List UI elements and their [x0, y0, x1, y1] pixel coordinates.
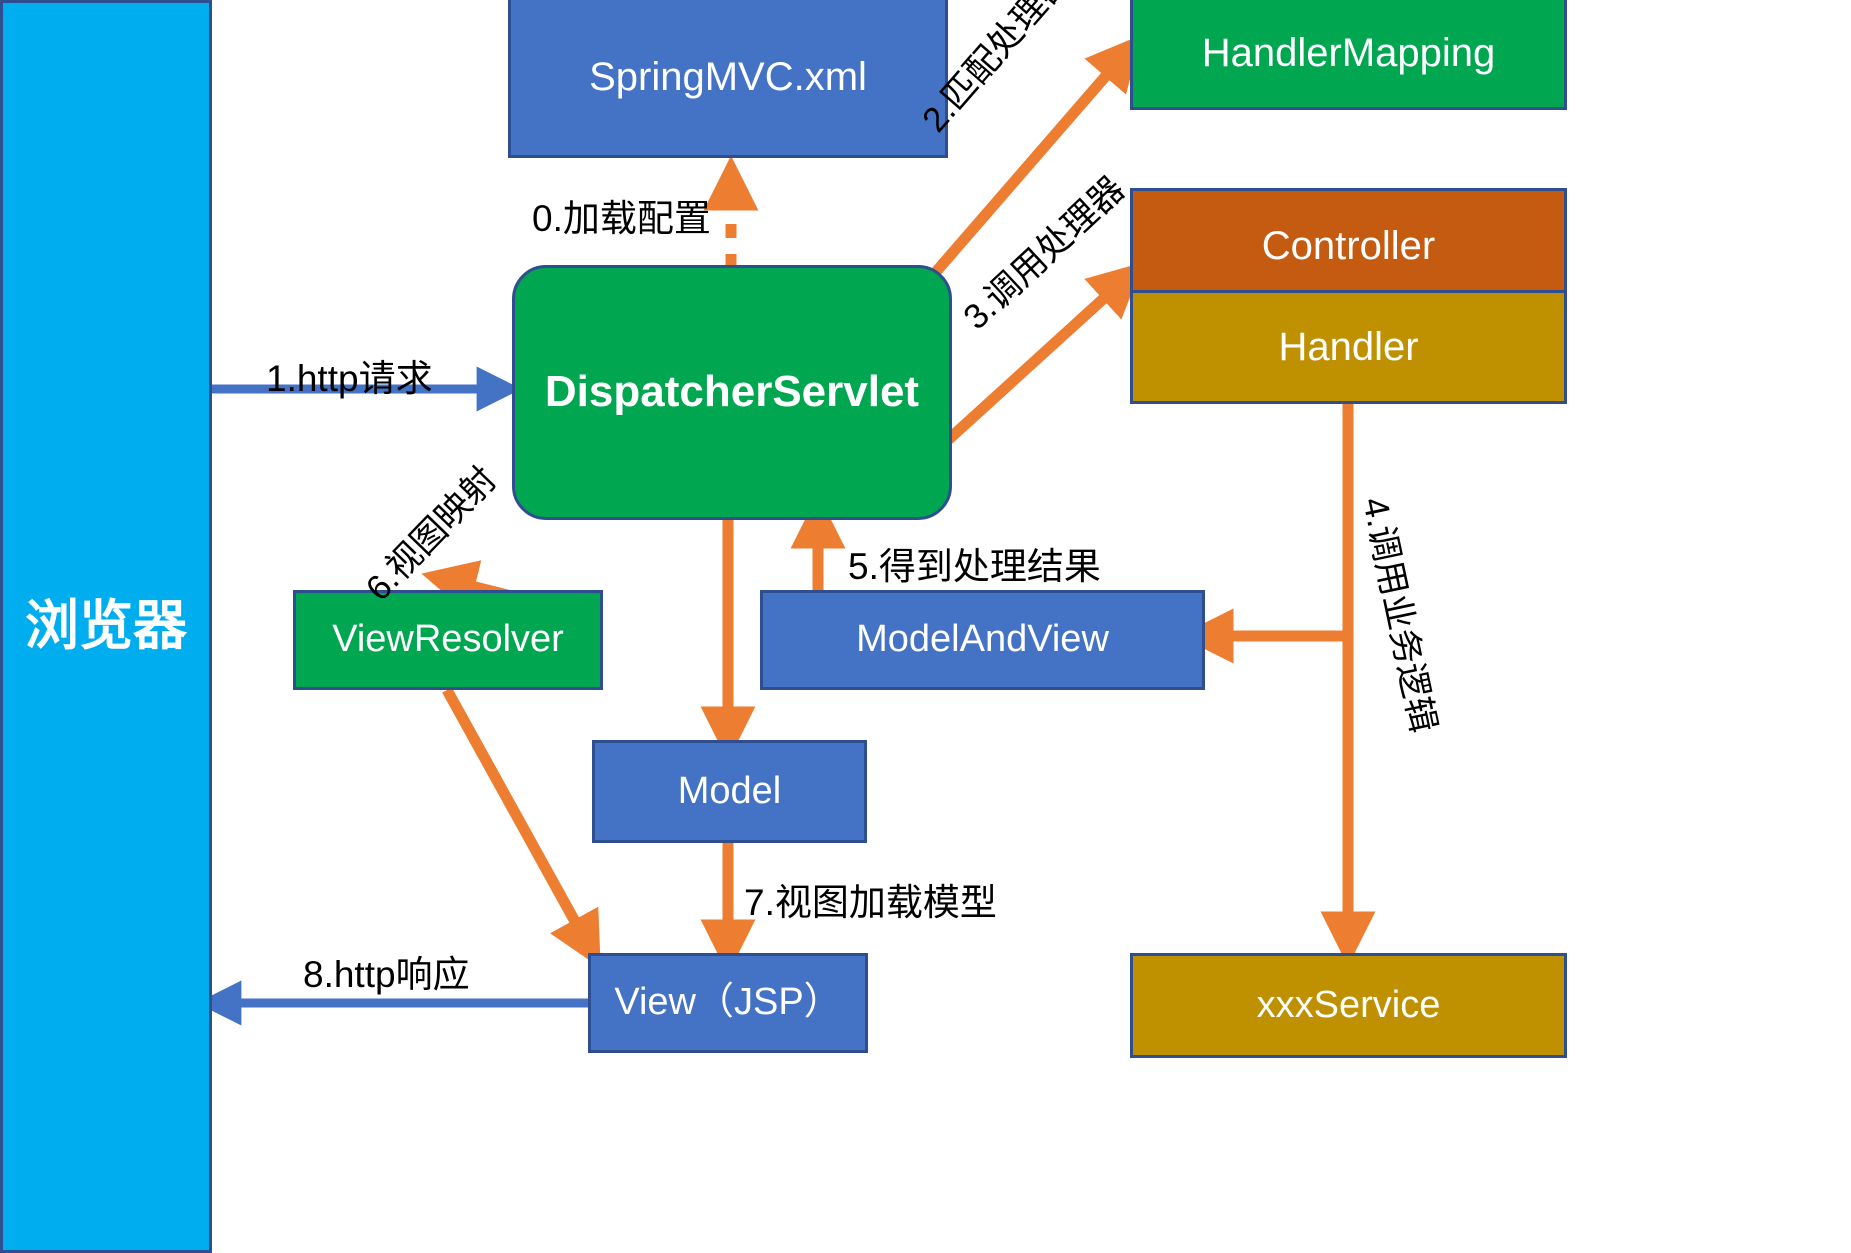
- edge-label-step5-text: 5.得到处理结果: [848, 546, 1101, 587]
- node-handler[interactable]: Handler: [1130, 290, 1567, 404]
- node-dispatcher-servlet[interactable]: DispatcherServlet: [512, 265, 952, 520]
- node-browser-label: 浏览器: [25, 597, 187, 656]
- node-springmvc-xml[interactable]: SpringMVC.xml: [508, 0, 948, 158]
- edge-label-step1: 1.http请求: [266, 348, 433, 402]
- edge-label-step0: 0.加载配置: [532, 188, 711, 242]
- edge-label-step7: 7.视图加载模型: [744, 872, 997, 926]
- edge-label-step6: 6.视图映射: [352, 453, 506, 610]
- node-view-jsp-label: View（JSP）: [614, 982, 841, 1024]
- edge-label-step0-text: 0.加载配置: [532, 198, 711, 239]
- node-handler-mapping-label: HandlerMapping: [1202, 31, 1496, 75]
- edge-label-step4-text: 4.调用业务逻辑: [1355, 494, 1443, 736]
- node-model-label: Model: [678, 771, 782, 813]
- arrow-viewresolver-to-view: [447, 690, 588, 945]
- node-model-and-view[interactable]: ModelAndView: [760, 590, 1205, 690]
- edge-label-step3-text: 3.调用处理器: [956, 169, 1132, 337]
- node-model-and-view-label: ModelAndView: [856, 619, 1109, 661]
- node-handler-label: Handler: [1278, 325, 1418, 369]
- edge-label-step8: 8.http响应: [303, 944, 470, 998]
- springmvc-flow-diagram: 浏览器 SpringMVC.xml DispatcherServlet Hand…: [0, 0, 1851, 1253]
- node-controller[interactable]: Controller: [1130, 188, 1567, 304]
- edge-label-step8-text: 8.http响应: [303, 954, 470, 995]
- edge-label-step5: 5.得到处理结果: [848, 536, 1101, 590]
- node-springmvc-xml-label: SpringMVC.xml: [589, 55, 867, 99]
- node-view-jsp[interactable]: View（JSP）: [588, 953, 868, 1053]
- edge-label-step1-text: 1.http请求: [266, 358, 433, 399]
- node-controller-label: Controller: [1262, 224, 1435, 268]
- node-view-resolver-label: ViewResolver: [332, 619, 564, 661]
- node-dispatcher-servlet-label: DispatcherServlet: [545, 368, 919, 416]
- edge-label-step7-text: 7.视图加载模型: [744, 882, 997, 923]
- node-xxx-service-label: xxxService: [1257, 985, 1441, 1027]
- edge-label-step3: 3.调用处理器: [950, 163, 1134, 340]
- node-xxx-service[interactable]: xxxService: [1130, 953, 1567, 1058]
- node-handler-mapping[interactable]: HandlerMapping: [1130, 0, 1567, 110]
- node-model[interactable]: Model: [592, 740, 867, 843]
- node-view-resolver[interactable]: ViewResolver: [293, 590, 603, 690]
- edge-label-step6-text: 6.视图映射: [358, 460, 504, 609]
- edge-label-step4: 4.调用业务逻辑: [1352, 492, 1452, 737]
- node-browser[interactable]: 浏览器: [0, 0, 212, 1253]
